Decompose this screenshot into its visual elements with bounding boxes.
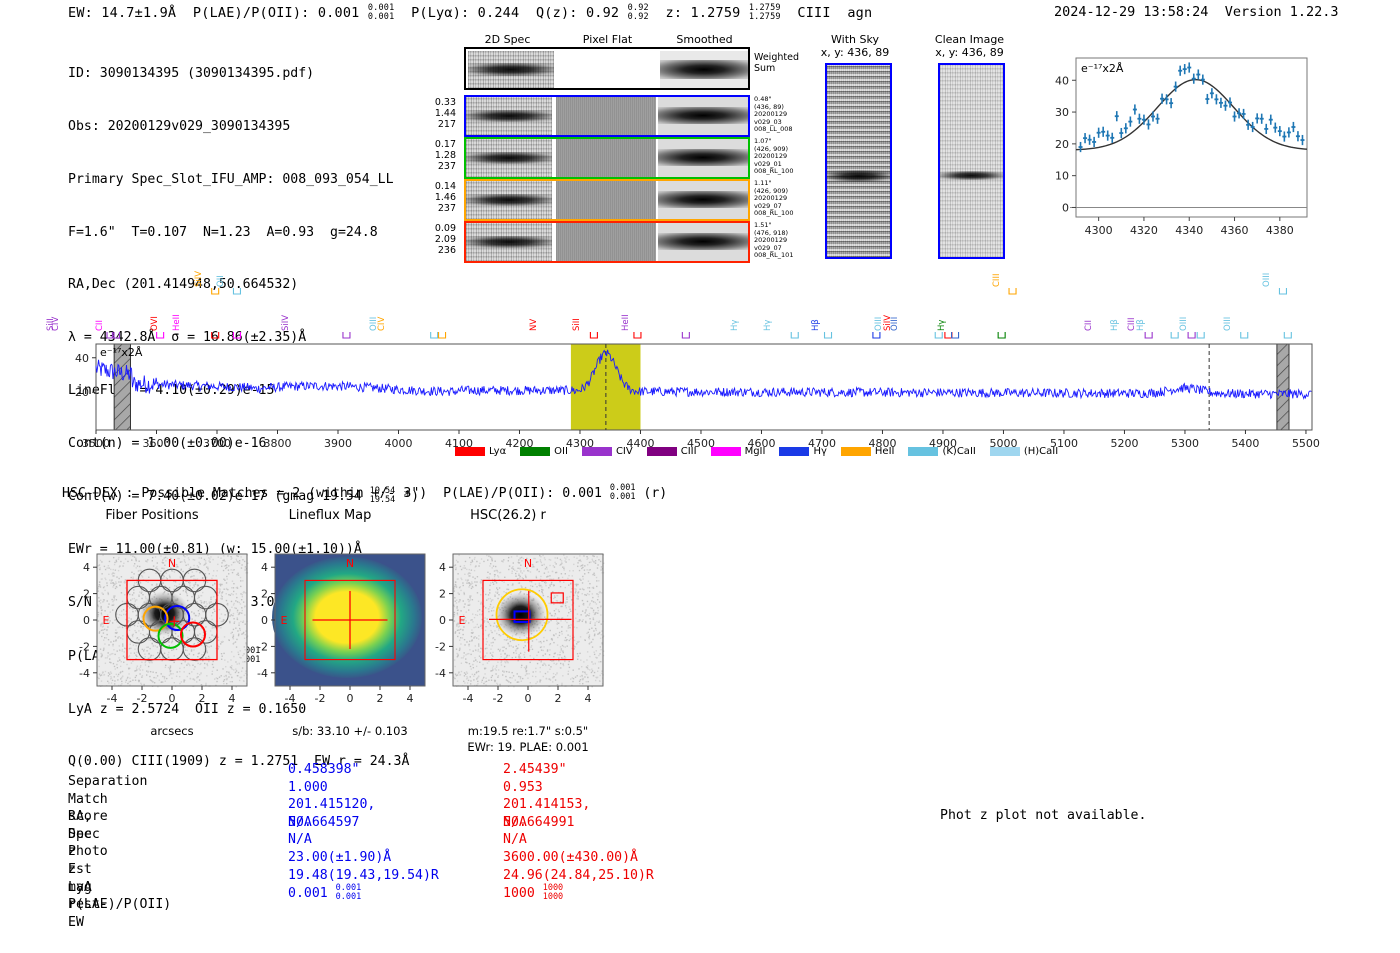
legend-label: Hγ: [813, 446, 826, 457]
panel-ytick: 4: [261, 561, 268, 574]
legend-swatch: [711, 447, 741, 456]
with-sky-image: [825, 63, 892, 259]
full-spectrum-plot: 2040350036003700380039004000410042004300…: [0, 262, 1400, 472]
image-panel-title: Lineflux Map: [233, 508, 427, 523]
hscdex-suffix: (r): [643, 486, 667, 501]
exposure-stat-value: 1.28: [420, 150, 456, 161]
panel-ytick: -2: [435, 640, 446, 653]
fitplot-xtick: 4340: [1175, 224, 1203, 237]
legend-swatch: [908, 447, 938, 456]
legend-label: (H)CaII: [1024, 446, 1058, 457]
exposure-stat-value: 1.46: [420, 192, 456, 203]
panel-xtick: 0: [525, 692, 532, 705]
exposure-2dspec-image: [466, 223, 552, 261]
header-plae-sub: 0.001: [368, 12, 395, 22]
spectrum-line-label: CIV: [377, 317, 446, 331]
match-table-value-primary: 1.000: [288, 779, 328, 797]
spectrum-line-bracket: [998, 332, 1005, 338]
panel-ytick: 2: [83, 588, 90, 601]
spectrum-line-bracket: [1171, 332, 1178, 338]
fitplot-ytick: 10: [1055, 170, 1069, 183]
spec2d-exposure-row: [464, 95, 750, 137]
spectrum-xtick: 5500: [1292, 437, 1320, 450]
legend-item: Lyα: [455, 446, 506, 457]
spectrum-line-bracket: [1241, 332, 1248, 338]
timestamp: 2024-12-29 13:58:24: [1054, 4, 1208, 20]
match-table-value-secondary: 0.953: [503, 779, 543, 797]
exposure-stat-value: 0.17: [420, 139, 456, 150]
panel-xtick: 4: [585, 692, 592, 705]
panel-xtick: 0: [347, 692, 354, 705]
spectrum-line-bracket: [825, 332, 832, 338]
compass-east: E: [459, 614, 466, 627]
weighted-sum-label-line2: Sum: [754, 63, 799, 74]
legend-item: (H)CaII: [990, 446, 1058, 457]
legend-swatch: [990, 447, 1020, 456]
image-panel: Fiber PositionsNE-4-2024420-2-4arcsecs: [55, 508, 255, 738]
panel-caption-2: EWr: 19. PLAE: 0.001: [425, 740, 631, 754]
spectrum-line-bracket: [157, 332, 164, 338]
spectrum-line-label: HeII: [172, 314, 241, 331]
compass-east: E: [281, 614, 288, 627]
photz-note: Phot z plot not available.: [940, 808, 1146, 823]
header-line-id: CIII: [797, 5, 830, 21]
spectrum-line-bracket: [682, 332, 689, 338]
spectrum-xtick: 5300: [1171, 437, 1199, 450]
header-z: z: 1.2759: [666, 5, 741, 21]
panel-xlabel: arcsecs: [97, 724, 247, 738]
exposure-pixelflat-image: [556, 139, 656, 177]
with-sky-subtitle: x, y: 436, 89: [805, 46, 905, 59]
legend-item: Hγ: [779, 446, 826, 457]
info-line-seeing: F=1.6" T=0.107 N=1.23 A=0.93 g=24.8: [68, 224, 419, 242]
legend-swatch: [647, 447, 677, 456]
spectrum-xtick: 4000: [384, 437, 412, 450]
panel-ytick: -4: [257, 667, 268, 680]
clean-image-title: Clean Image: [917, 33, 1022, 46]
weighted-sum-2dspec-image: [468, 51, 554, 88]
spectrum-trace: [96, 350, 1311, 399]
info-line-id: ID: 3090134395 (3090134395.pdf): [68, 65, 419, 83]
match-table-value-secondary: N/A: [503, 831, 527, 849]
spectrum-legend: LyαOIICIVCIIIMgIIHγHeII(K)CaII(H)CaII: [455, 446, 1072, 457]
match-table-value-primary: 0.001 0.0010.001: [288, 884, 361, 903]
panel-ytick: 4: [439, 561, 446, 574]
hscdex-summary: HSC-DEX : Possible Matches = 2 (within +…: [62, 484, 667, 502]
panel-xtick: 2: [199, 692, 206, 705]
match-table-label: Separation: [68, 773, 147, 791]
exposure-2dspec-image: [466, 181, 552, 219]
spectrum-line-bracket: [1197, 332, 1204, 338]
exposure-stat-value: 237: [420, 203, 456, 214]
legend-swatch: [520, 447, 550, 456]
header-qz-sub: 0.92: [628, 12, 649, 22]
match-table-value-primary: N/A: [288, 814, 312, 832]
panel-xtick: 2: [555, 692, 562, 705]
exposure-left-stats: 0.171.28237: [420, 139, 456, 172]
exposure-meta-line: 008_RL_100: [754, 210, 793, 218]
image-panel: Lineflux MapNE-4-2024420-2-4s/b: 33.10 +…: [233, 508, 433, 738]
exposure-meta: 1.11"(426, 909)20200129v029_07008_RL_100: [754, 180, 793, 218]
clean-image-title-block: Clean Image x, y: 436, 89: [917, 33, 1022, 59]
exposure-stat-value: 0.14: [420, 181, 456, 192]
spectrum-line-bracket: [952, 332, 959, 338]
spectrum-line-label: Hβ: [811, 319, 880, 331]
exposure-meta-line: 008_RL_101: [754, 252, 793, 260]
hscdex-sub: 0.001: [610, 492, 636, 502]
fitplot-xtick: 4380: [1266, 224, 1294, 237]
hscdex-prefix: HSC-DEX : Possible Matches = 2 (within +…: [62, 486, 602, 501]
panel-xtick: -2: [493, 692, 504, 705]
panel-ytick: -4: [435, 667, 446, 680]
match-table-label: mag: [68, 879, 92, 897]
legend-item: (K)CaII: [908, 446, 975, 457]
info-line-primary-spec: Primary Spec_Slot_IFU_AMP: 008_093_054_L…: [68, 171, 419, 189]
legend-item: CIV: [582, 446, 633, 457]
exposure-meta: 1.51"(476, 918)20200129v029_07008_RL_101: [754, 222, 793, 260]
spectrum-line-bracket: [935, 332, 942, 338]
match-table-value-primary: 23.00(±1.90)Å: [288, 849, 391, 867]
panel-ytick: 2: [261, 588, 268, 601]
panel-ytick: -2: [257, 640, 268, 653]
spectrum-line-bracket: [1009, 288, 1016, 294]
panel-ytick: 2: [439, 588, 446, 601]
match-table-label: P(LAE)/P(OII): [68, 896, 171, 914]
clean-image-image: [938, 63, 1005, 259]
legend-item: OII: [520, 446, 568, 457]
with-sky-title: With Sky: [805, 33, 905, 46]
spectrum-line-bracket: [634, 332, 641, 338]
match-table-value-secondary: 24.96(24.84,25.10)R: [503, 867, 654, 885]
spectrum-line-label: CIII: [992, 274, 1017, 287]
panel-xtick: -2: [315, 692, 326, 705]
legend-label: MgII: [745, 446, 766, 457]
legend-label: HeII: [875, 446, 895, 457]
line-fit-plot: 01020304043004320434043604380e⁻¹⁷x2Å: [1038, 50, 1313, 255]
spectrum-line-bracket: [343, 332, 350, 338]
image-panel-group: Fiber PositionsNE-4-2024420-2-4arcsecsLi…: [55, 508, 655, 738]
compass-north: N: [346, 557, 354, 570]
fitplot-ytick: 20: [1055, 138, 1069, 151]
header-timestamp-block: 2024-12-29 13:58:24 Version 1.22.3: [1054, 4, 1339, 20]
info-line-obs: Obs: 20200129v029_3090134395: [68, 118, 419, 136]
panel-ytick: 0: [83, 614, 90, 627]
spectrum-line-label: SiIV: [281, 315, 350, 331]
spectrum-line-label: OII: [216, 275, 241, 287]
match-table-value-secondary: 1000 10001000: [503, 884, 563, 903]
header-class: agn: [847, 5, 872, 21]
spectrum-xtick: 3500: [82, 437, 110, 450]
exposure-stat-value: 0.09: [420, 223, 456, 234]
spectrum-line-label: OIII: [1223, 317, 1292, 331]
legend-label: (K)CaII: [942, 446, 975, 457]
header-plae-errors: 0.0010.001: [368, 4, 395, 22]
header-plya: P(Lyα): 0.244: [411, 5, 519, 21]
exposure-stat-value: 1.44: [420, 108, 456, 119]
spectrum-xtick: 5400: [1231, 437, 1259, 450]
weighted-sum-pixelflat-image: [558, 51, 658, 88]
match-table-value-primary: 19.48(19.43,19.54)R: [288, 867, 439, 885]
match-table-value-primary: N/A: [288, 831, 312, 849]
spectrum-line-bracket: [1284, 332, 1291, 338]
fitplot-ytick: 30: [1055, 106, 1069, 119]
spectrum-units-annotation: e⁻¹⁷x2Å: [100, 346, 143, 359]
spectrum-line-bracket: [439, 332, 446, 338]
exposure-meta-line: 008_RL_100: [754, 168, 793, 176]
panel-xtick: -2: [137, 692, 148, 705]
spectrum-line-bracket: [233, 288, 240, 294]
weighted-sum-label: Weighted Sum: [754, 52, 799, 74]
legend-swatch: [455, 447, 485, 456]
spectrum-ytick: 40: [75, 352, 89, 365]
match-table-value-secondary: N/A: [503, 814, 527, 832]
header-z-errors: 1.27591.2759: [749, 4, 781, 22]
spec2d-col-title-smoothed: Smoothed: [657, 33, 752, 46]
legend-swatch: [582, 447, 612, 456]
cutouts-top-group: With Sky x, y: 436, 89 Clean Image x, y:…: [805, 33, 1025, 261]
panel-xtick: 0: [169, 692, 176, 705]
spectrum-xtick: 3600: [142, 437, 170, 450]
match-table-value-primary: 0.458398": [288, 761, 359, 779]
header-qz: Q(z): 0.92: [536, 5, 619, 21]
panel-ytick: -4: [79, 667, 90, 680]
fitplot-units-annotation: e⁻¹⁷x2Å: [1081, 62, 1124, 75]
legend-label: OII: [554, 446, 568, 457]
spectrum-line-bracket: [791, 332, 798, 338]
exposure-2dspec-image: [466, 139, 552, 177]
exposure-smoothed-image: [658, 97, 748, 135]
spectrum-line-bracket: [590, 332, 597, 338]
header-qz-errors: 0.920.92: [628, 4, 649, 22]
exposure-stat-value: 0.33: [420, 97, 456, 108]
spectrum-line-bracket: [233, 332, 240, 338]
compass-north: N: [168, 557, 176, 570]
panel-xtick: -4: [107, 692, 118, 705]
clean-image-subtitle: x, y: 436, 89: [917, 46, 1022, 59]
legend-label: Lyα: [489, 446, 506, 457]
compass-east: E: [103, 614, 110, 627]
exposure-left-stats: 0.092.09236: [420, 223, 456, 256]
exposure-stat-value: 237: [420, 161, 456, 172]
panel-ytick: 0: [439, 614, 446, 627]
exposure-smoothed-image: [658, 139, 748, 177]
match-table-value-secondary: 3600.00(±430.00)Å: [503, 849, 638, 867]
spectrum-masked-band: [1277, 344, 1289, 430]
panel-xtick: -4: [463, 692, 474, 705]
exposure-stat-value: 236: [420, 245, 456, 256]
spec2d-exposure-row: [464, 179, 750, 221]
legend-item: HeII: [841, 446, 895, 457]
spectrum-line-bracket: [1188, 332, 1195, 338]
exposure-meta-line: 008_LL_008: [754, 126, 793, 134]
header-plae: P(LAE)/P(OII): 0.001: [193, 5, 360, 21]
header-z-sub: 1.2759: [749, 12, 781, 22]
hscdex-plae-errors: 0.0010.001: [610, 484, 636, 502]
exposure-left-stats: 0.331.44217: [420, 97, 456, 130]
image-panel-title: Fiber Positions: [55, 508, 249, 523]
spectrum-xtick: 3700: [203, 437, 231, 450]
exposure-stat-value: 2.09: [420, 234, 456, 245]
weighted-sum-smoothed-image: [660, 51, 748, 88]
spectrum-line-bracket: [873, 332, 880, 338]
weighted-sum-row: [464, 47, 750, 90]
exposure-left-stats: 0.141.46237: [420, 181, 456, 214]
panel-caption: m:19.5 re:1.7" s:0.5": [425, 724, 631, 738]
panel-ytick: -2: [79, 640, 90, 653]
version-label: Version 1.22.3: [1225, 4, 1339, 20]
legend-item: MgII: [711, 446, 766, 457]
with-sky-title-block: With Sky x, y: 436, 89: [805, 33, 905, 59]
spectrum-line-label: HeII: [621, 314, 690, 331]
spec2d-col-title-pixelflat: Pixel Flat: [560, 33, 655, 46]
legend-swatch: [779, 447, 809, 456]
spectrum-line-bracket: [431, 332, 438, 338]
spectrum-xtick: 3800: [263, 437, 291, 450]
exposure-pixelflat-image: [556, 223, 656, 261]
exposure-meta: 0.48"(436, 89)20200129v029_03008_LL_008: [754, 96, 793, 134]
spec2d-exposure-row: [464, 221, 750, 263]
spectrum-xtick: 5200: [1110, 437, 1138, 450]
legend-swatch: [841, 447, 871, 456]
weighted-sum-label-line1: Weighted: [754, 52, 799, 63]
spec2d-col-title-2dspec: 2D Spec: [460, 33, 555, 46]
header-ew: EW: 14.7±1.9Å: [68, 5, 176, 21]
spectrum-xtick: 3900: [324, 437, 352, 450]
header-summary-line: EW: 14.7±1.9Å P(LAE)/P(OII): 0.001 0.001…: [68, 4, 872, 22]
legend-label: CIII: [681, 446, 697, 457]
spectrum-ytick: 20: [75, 386, 89, 399]
panel-xtick: -4: [285, 692, 296, 705]
spec2d-exposure-row: [464, 137, 750, 179]
legend-item: CIII: [647, 446, 697, 457]
info-line-q: Q(0.00) CIII(1909) z = 1.2751 EW r = 24.…: [68, 753, 419, 771]
spectrum-line-label: Hγ: [937, 320, 1006, 331]
image-panel-title: HSC(26.2) r: [411, 508, 605, 523]
panel-ytick: 4: [83, 561, 90, 574]
match-table-value-secondary: 2.45439": [503, 761, 567, 779]
fitplot-xtick: 4360: [1221, 224, 1249, 237]
spectrum-line-bracket: [945, 332, 952, 338]
spectrum-line-label: OIII: [1262, 273, 1287, 287]
exposure-smoothed-image: [658, 181, 748, 219]
image-panel: HSC(26.2) rNE-4-2024420-2-4m:19.5 re:1.7…: [411, 508, 611, 738]
fitplot-xtick: 4320: [1130, 224, 1158, 237]
spectrum-line-bracket: [1145, 332, 1152, 338]
spectrum-line-bracket: [212, 288, 219, 294]
exposure-pixelflat-image: [556, 181, 656, 219]
exposure-stat-value: 217: [420, 119, 456, 130]
exposure-pixelflat-image: [556, 97, 656, 135]
spectrum-line-bracket: [212, 332, 219, 338]
panel-ytick: 0: [261, 614, 268, 627]
legend-label: CIV: [616, 446, 633, 457]
spec2d-panel-group: 2D Spec Pixel Flat Smoothed Weighted Sum…: [460, 33, 800, 261]
panel-xtick: 2: [377, 692, 384, 705]
fitplot-xtick: 4300: [1085, 224, 1113, 237]
exposure-2dspec-image: [466, 97, 552, 135]
compass-north: N: [524, 557, 532, 570]
exposure-smoothed-image: [658, 223, 748, 261]
exposure-meta: 1.07"(426, 909)20200129v029_01008_RL_100: [754, 138, 793, 176]
fitplot-ytick: 0: [1062, 201, 1069, 214]
fitplot-ytick: 40: [1055, 74, 1069, 87]
spectrum-line-bracket: [1279, 288, 1286, 294]
